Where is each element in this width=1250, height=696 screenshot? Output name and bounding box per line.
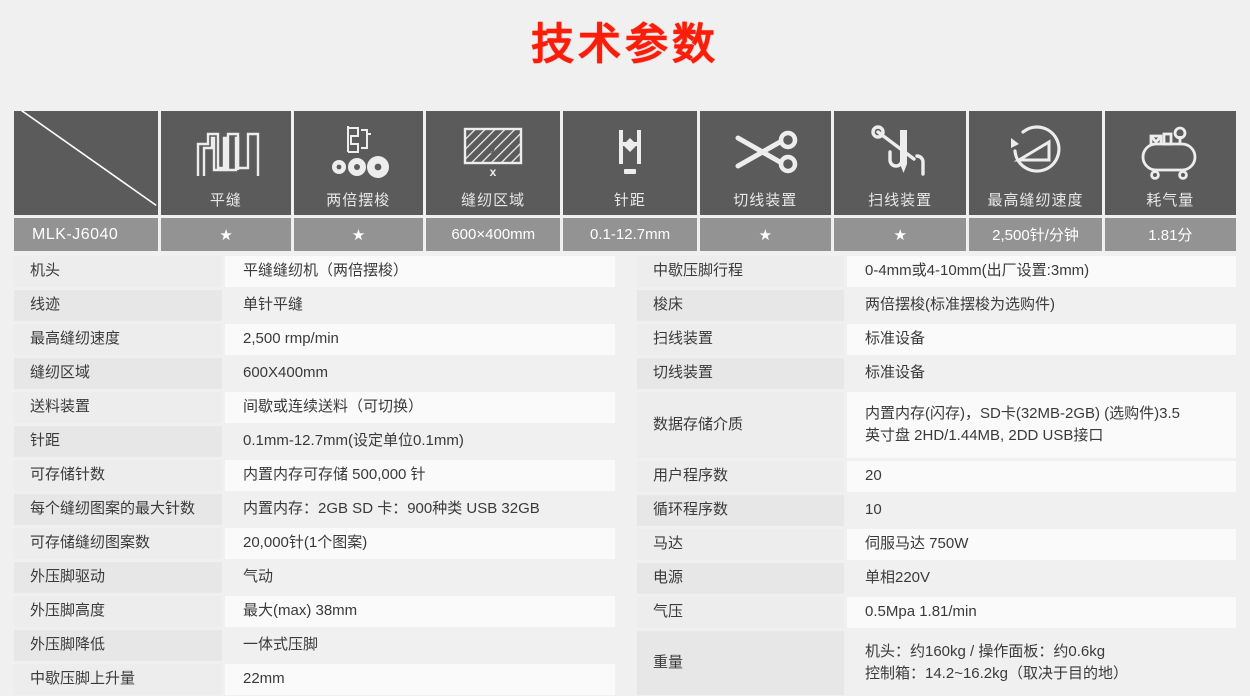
diagonal-slash-icon: [14, 111, 158, 208]
spec-header-cell-flat-stitch: 平缝: [161, 111, 290, 215]
table-row: 循环程序数 10: [637, 495, 1236, 526]
row-key: 线迹: [14, 290, 222, 321]
table-row: 中歇压脚上升量 22mm: [14, 664, 615, 695]
row-key: 外压脚降低: [14, 630, 222, 661]
row-value: 最大(max) 38mm: [225, 596, 615, 627]
row-key: 循环程序数: [637, 495, 844, 526]
spec-value-air-consumption: 1.81分: [1105, 218, 1236, 251]
row-value: 机头：约160kg / 操作面板：约0.6kg 控制箱：14.2~16.2kg（…: [847, 631, 1236, 695]
row-value: 单针平缝: [225, 290, 615, 321]
spec-header-label: 切线装置: [733, 193, 797, 208]
row-key: 可存储缝纫图案数: [14, 528, 222, 559]
page-title: 技术参数: [0, 0, 1250, 67]
row-key: 机头: [14, 256, 222, 287]
row-value: 20: [847, 461, 1236, 492]
lockstitch-icon: [161, 111, 290, 193]
spec-detail-tables: 机头 平缝缝纫机（两倍摆梭） 线迹 单针平缝 最高缝纫速度 2,500 rmp/…: [14, 256, 1236, 695]
air-consumption-icon: [1105, 111, 1236, 193]
row-value: 内置内存(闪存)，SD卡(32MB-2GB) (选购件)3.5 英寸盘 2HD/…: [847, 392, 1236, 458]
spec-table-right: 中歇压脚行程 0-4mm或4-10mm(出厂设置:3mm) 梭床 两倍摆梭(标准…: [637, 256, 1236, 695]
row-key: 梭床: [637, 290, 844, 321]
table-row: 重量 机头：约160kg / 操作面板：约0.6kg 控制箱：14.2~16.2…: [637, 631, 1236, 695]
spec-header-label: 扫线装置: [868, 193, 932, 208]
row-key: 切线装置: [637, 358, 844, 389]
row-value: 标准设备: [847, 358, 1236, 389]
row-value: 0.1mm-12.7mm(设定单位0.1mm): [225, 426, 615, 457]
row-value: 平缝缝纫机（两倍摆梭）: [225, 256, 615, 287]
row-value: 一体式压脚: [225, 630, 615, 661]
row-key: 外压脚驱动: [14, 562, 222, 593]
table-row: 马达 伺服马达 750W: [637, 529, 1236, 560]
spec-header-label: 缝纫区域: [461, 193, 525, 208]
max-speed-gauge-icon: [969, 111, 1101, 193]
spec-header-cell-stitch-pitch: 针距: [563, 111, 696, 215]
row-value: 10: [847, 495, 1236, 526]
row-key: 中歇压脚行程: [637, 256, 844, 287]
row-value-line2: 英寸盘 2HD/1.44MB, 2DD USB接口: [865, 425, 1180, 448]
table-row: 切线装置 标准设备: [637, 358, 1236, 389]
thread-wiper-icon: [834, 111, 966, 193]
row-key: 每个缝纫图案的最大针数: [14, 494, 222, 525]
spec-value-thread-wiper: ★: [834, 218, 966, 251]
spec-icon-header: 平缝: [14, 111, 1236, 215]
spec-value-flat-stitch: ★: [161, 218, 290, 251]
spec-header-label: 针距: [614, 193, 646, 208]
row-key: 数据存储介质: [637, 392, 844, 458]
spec-header-cell-air-consumption: 耗气量: [1105, 111, 1236, 215]
table-row: 每个缝纫图案的最大针数 内置内存：2GB SD 卡：900种类 USB 32GB: [14, 494, 615, 525]
thread-trimmer-icon: [700, 111, 831, 193]
row-key: 气压: [637, 597, 844, 628]
row-value: 单相220V: [847, 563, 1236, 594]
row-value: 两倍摆梭(标准摆梭为选购件): [847, 290, 1236, 321]
table-row: 机头 平缝缝纫机（两倍摆梭）: [14, 256, 615, 287]
table-row: 送料装置 间歇或连续送料（可切换）: [14, 392, 615, 423]
row-key: 中歇压脚上升量: [14, 664, 222, 695]
svg-text:y: y: [490, 142, 497, 154]
spec-table-left: 机头 平缝缝纫机（两倍摆梭） 线迹 单针平缝 最高缝纫速度 2,500 rmp/…: [14, 256, 615, 695]
row-key: 缝纫区域: [14, 358, 222, 389]
spec-header-cell-max-speed: 最高缝纫速度: [969, 111, 1101, 215]
spec-value-max-speed: 2,500针/分钟: [969, 218, 1101, 251]
row-value: 内置内存：2GB SD 卡：900种类 USB 32GB: [225, 494, 615, 525]
table-row: 最高缝纫速度 2,500 rmp/min: [14, 324, 615, 355]
row-value: 0.5Mpa 1.81/min: [847, 597, 1236, 628]
spec-header-cell-model: [14, 111, 158, 215]
row-key: 最高缝纫速度: [14, 324, 222, 355]
row-value: 0-4mm或4-10mm(出厂设置:3mm): [847, 256, 1236, 287]
table-row: 可存储缝纫图案数 20,000针(1个图案): [14, 528, 615, 559]
model-number: MLK-J6040: [14, 218, 158, 251]
stitch-pitch-icon: [563, 111, 696, 193]
spec-header-label: 平缝: [210, 193, 242, 208]
table-row: 线迹 单针平缝: [14, 290, 615, 321]
row-key: 重量: [637, 631, 844, 695]
row-key: 针距: [14, 426, 222, 457]
row-key: 用户程序数: [637, 461, 844, 492]
table-row: 外压脚驱动 气动: [14, 562, 615, 593]
table-row: 气压 0.5Mpa 1.81/min: [637, 597, 1236, 628]
row-key: 送料装置: [14, 392, 222, 423]
spec-value-stitch-pitch: 0.1-12.7mm: [563, 218, 696, 251]
spec-value-double-shuttle: ★: [294, 218, 423, 251]
spec-header-label: 耗气量: [1146, 193, 1194, 208]
row-key: 电源: [637, 563, 844, 594]
table-row: 外压脚高度 最大(max) 38mm: [14, 596, 615, 627]
row-value: 间歇或连续送料（可切换）: [225, 392, 615, 423]
table-row: 外压脚降低 一体式压脚: [14, 630, 615, 661]
spec-header-cell-double-shuttle: 两倍摆梭: [294, 111, 423, 215]
table-row: 梭床 两倍摆梭(标准摆梭为选购件): [637, 290, 1236, 321]
row-key: 外压脚高度: [14, 596, 222, 627]
row-value: 600X400mm: [225, 358, 615, 389]
row-value-line1: 内置内存(闪存)，SD卡(32MB-2GB) (选购件)3.5: [865, 403, 1180, 426]
table-row: 缝纫区域 600X400mm: [14, 358, 615, 389]
row-value: 20,000针(1个图案): [225, 528, 615, 559]
svg-text:x: x: [490, 165, 497, 179]
row-value: 标准设备: [847, 324, 1236, 355]
row-key: 马达: [637, 529, 844, 560]
spec-header-cell-sewing-area: y x 缝纫区域: [426, 111, 560, 215]
sewing-area-icon: y x: [426, 111, 560, 193]
spec-header-cell-thread-trimmer: 切线装置: [700, 111, 831, 215]
row-value-line1: 机头：约160kg / 操作面板：约0.6kg: [865, 641, 1128, 664]
row-key: 可存储针数: [14, 460, 222, 491]
row-value-line2: 控制箱：14.2~16.2kg（取决于目的地）: [865, 663, 1128, 686]
spec-header-cell-thread-wiper: 扫线装置: [834, 111, 966, 215]
spec-value-row: MLK-J6040 ★ ★ 600×400mm 0.1-12.7mm ★ ★ 2…: [14, 218, 1236, 251]
double-shuttle-icon: [294, 111, 423, 193]
table-row: 中歇压脚行程 0-4mm或4-10mm(出厂设置:3mm): [637, 256, 1236, 287]
table-row: 扫线装置 标准设备: [637, 324, 1236, 355]
spec-value-thread-trimmer: ★: [700, 218, 831, 251]
spec-value-sewing-area: 600×400mm: [426, 218, 560, 251]
row-value: 伺服马达 750W: [847, 529, 1236, 560]
row-value: 2,500 rmp/min: [225, 324, 615, 355]
table-row: 电源 单相220V: [637, 563, 1236, 594]
table-row: 用户程序数 20: [637, 461, 1236, 492]
table-row: 数据存储介质 内置内存(闪存)，SD卡(32MB-2GB) (选购件)3.5 英…: [637, 392, 1236, 458]
spec-header-label: 两倍摆梭: [326, 193, 390, 208]
row-value: 22mm: [225, 664, 615, 695]
spec-header-label: 最高缝纫速度: [987, 193, 1083, 208]
row-value: 气动: [225, 562, 615, 593]
row-value: 内置内存可存储 500,000 针: [225, 460, 615, 491]
table-row: 可存储针数 内置内存可存储 500,000 针: [14, 460, 615, 491]
row-key: 扫线装置: [637, 324, 844, 355]
table-row: 针距 0.1mm-12.7mm(设定单位0.1mm): [14, 426, 615, 457]
